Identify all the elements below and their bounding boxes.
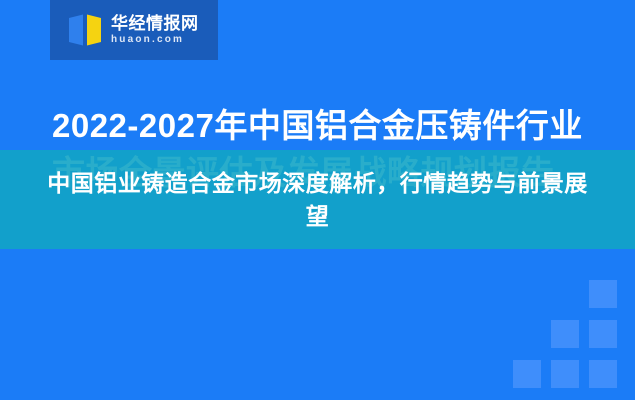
deco-square: [551, 320, 579, 348]
headline-text: 中国铝业铸造合金市场深度解析，行情趋势与前景展望: [38, 167, 597, 232]
deco-square: [589, 360, 617, 388]
cover-canvas: 2022-2027年中国铝合金压铸件行业市场全景评估及发展战略规划报告 中国铝业…: [0, 0, 635, 400]
brand-wordmark: 华经情报网 huaon.com: [111, 15, 199, 45]
brand-domain: huaon.com: [111, 35, 199, 45]
open-book-icon: [68, 14, 102, 46]
headline-band: 中国铝业铸造合金市场深度解析，行情趋势与前景展望: [0, 150, 635, 249]
staircase-squares-decoration: [505, 258, 617, 388]
deco-square: [551, 360, 579, 388]
brand-logo-plate[interactable]: 华经情报网 huaon.com: [50, 0, 218, 60]
deco-square: [589, 280, 617, 308]
deco-square: [513, 360, 541, 388]
deco-square: [589, 320, 617, 348]
brand-name-cn: 华经情报网: [111, 15, 199, 32]
